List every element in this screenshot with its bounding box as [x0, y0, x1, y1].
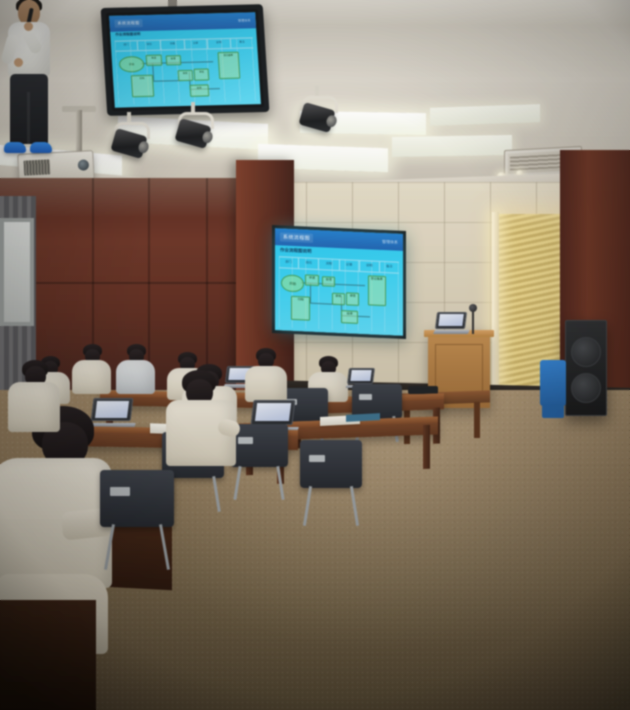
flow-shape-box: 受理 [165, 55, 181, 65]
speaker-cone [571, 337, 601, 367]
slide-col-header: 部门 [279, 257, 299, 268]
flow-shape-oval: 开始 [118, 56, 144, 72]
whiteboard [0, 218, 34, 326]
slide-title: 系统流程图 [280, 232, 313, 242]
slide-subtitle: 作业流程图说明 [115, 33, 140, 39]
fluorescent-panel-light [392, 135, 512, 157]
flow-shape-box: 归档 [291, 296, 310, 321]
slide-col-header: 岗位 [138, 40, 162, 50]
blue-shoe-cover [30, 142, 52, 153]
side-table-leg [474, 402, 480, 438]
slide-col-header: 说明 [207, 39, 231, 49]
slide-col-header: 记录 [184, 39, 208, 49]
slide-col-header: 说明 [360, 260, 380, 271]
folding-chair [100, 470, 174, 562]
ceiling-soffit-top [0, 0, 630, 26]
speaker-cone [571, 373, 601, 403]
presenter-trousers [10, 74, 48, 144]
slide-flowchart: 开始 申请 受理 审核 审批 登记备案 归档 结束 [115, 48, 256, 105]
presenter-hand [24, 22, 33, 31]
slide-col-header: 岗位 [299, 258, 319, 269]
flow-shape-box: 受理 [322, 276, 335, 287]
desk-shadow-block [0, 600, 96, 710]
flow-shape-box: 申请 [146, 55, 162, 66]
slide-title-right: 管理体系 [382, 239, 398, 246]
flow-shape-box: 审核 [332, 293, 345, 305]
presenter-hand [14, 58, 23, 67]
gold-panel-light-edge [492, 212, 499, 400]
attendee [8, 360, 62, 430]
attendee [166, 370, 238, 480]
projector-lens [78, 159, 90, 171]
attendee [244, 348, 288, 400]
flow-shape-oval: 开始 [281, 274, 303, 292]
projected-slide: 系统流程图 管理体系 作业流程图说明 部门 岗位 流程 记录 说明 备注 [275, 228, 403, 336]
slide-subtitle: 作业流程图说明 [280, 248, 312, 255]
laptop-lid [435, 312, 467, 329]
fluorescent-panel-light [430, 104, 540, 126]
monitor-slide: 系统流程图 管理体系 作业流程图说明 部门 岗位 流程 记录 说明 备注 [109, 12, 261, 107]
folding-chair [230, 424, 288, 494]
conference-room-photo: 系统流程图 管理体系 作业流程图说明 部门 岗位 流程 记录 说明 备注 [0, 0, 630, 710]
slide-col-header: 部门 [115, 41, 139, 51]
flow-shape-box: 结束 [341, 310, 358, 324]
laptop-base [433, 330, 469, 334]
blue-shoe-cover [4, 142, 26, 153]
slide-col-header: 备注 [380, 261, 399, 272]
podium-laptop[interactable] [436, 312, 466, 334]
slide-title-right: 管理体系 [238, 18, 251, 23]
projector-mount-pole [76, 110, 82, 156]
slide-titlebar: 系统流程图 管理体系 [109, 12, 256, 31]
flow-shape-box: 登记备案 [218, 52, 240, 79]
ceiling-monitor: 系统流程图 管理体系 作业流程图说明 部门 岗位 流程 记录 说明 备注 [101, 4, 270, 116]
flow-shape-box: 申请 [305, 274, 318, 286]
microphone-head [469, 304, 477, 312]
flow-shape-box: 结束 [189, 85, 209, 97]
attendee [72, 344, 112, 392]
slide-col-header: 备注 [231, 38, 254, 48]
slide-col-header: 流程 [319, 259, 339, 270]
projection-screen: 系统流程图 管理体系 作业流程图说明 部门 岗位 流程 记录 说明 备注 [272, 225, 406, 339]
flow-shape-box: 归档 [131, 75, 154, 97]
flow-shape-box: 登记备案 [368, 276, 386, 306]
pa-speaker [565, 320, 607, 416]
slide-col-header: 记录 [340, 260, 360, 271]
flow-shape-box: 审核 [177, 70, 193, 81]
flow-shape-box: 审批 [194, 68, 210, 80]
slide-flowchart: 开始 申请 受理 审核 审批 登记备案 归档 结束 [279, 268, 399, 333]
slide-col-header: 流程 [161, 40, 185, 50]
attendee [116, 344, 156, 392]
flow-shape-box: 审批 [346, 292, 359, 306]
folding-chair [300, 440, 362, 518]
projector-vent [24, 159, 51, 175]
blue-plastic-chair [540, 360, 566, 406]
slide-title: 系统流程图 [114, 19, 143, 28]
